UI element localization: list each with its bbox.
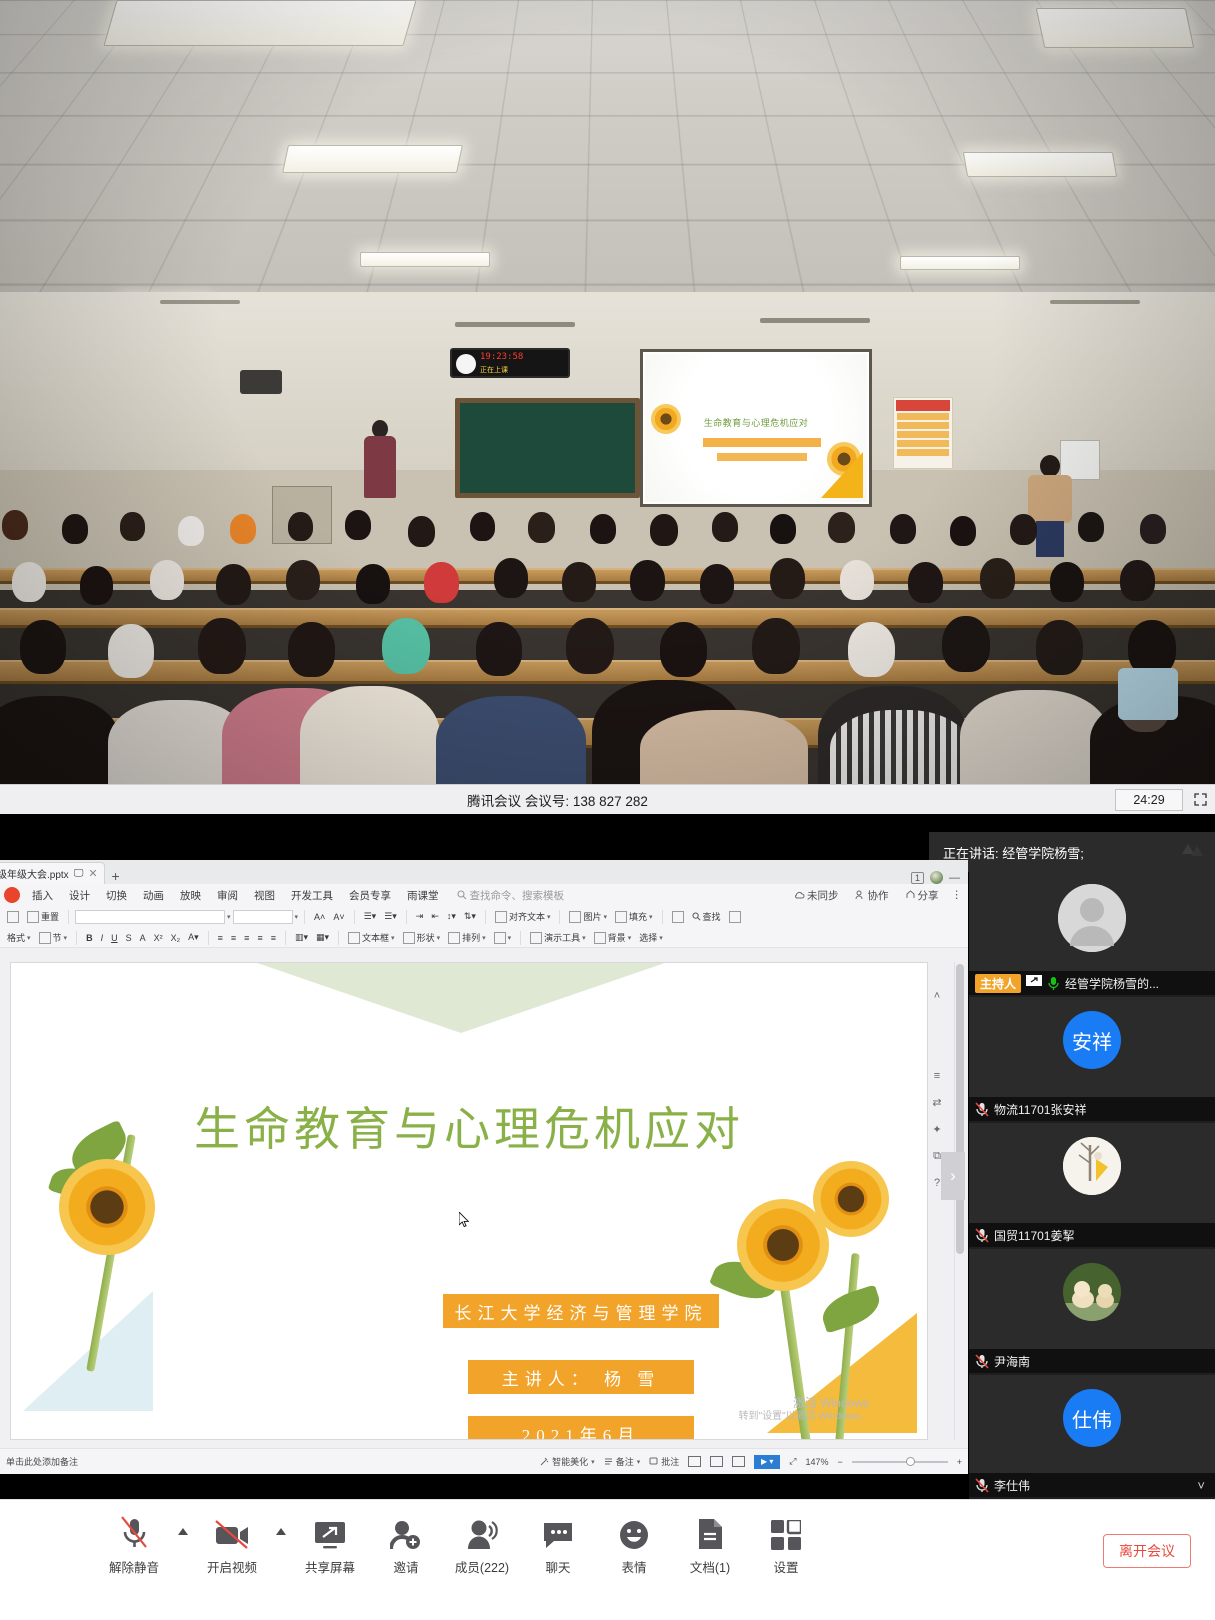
- ribbon-row-2: 格式▾ 节▾ B I U S A X² X₂ A▾ ≡ ≡ ≡ ≡ ≡ ▥▾ ▦…: [0, 927, 968, 948]
- ceiling-fan: [455, 322, 575, 327]
- emoji-smile-icon: [618, 1510, 650, 1550]
- wall-poster: [893, 397, 953, 469]
- monitor-icon: 🖵: [74, 868, 84, 879]
- menu-item-review[interactable]: 审阅: [209, 888, 246, 903]
- document-icon: [696, 1510, 724, 1550]
- participant-name-row: 尹海南: [969, 1349, 1215, 1373]
- participant-tile[interactable]: 主持人 经管学院杨雪的...: [969, 872, 1215, 997]
- slide-band-organization[interactable]: 长江大学经济与管理学院: [443, 1294, 719, 1328]
- mic-muted-icon: [975, 1354, 989, 1368]
- ceiling-light: [1036, 8, 1195, 48]
- paste-button[interactable]: [4, 911, 22, 923]
- people-icon: [855, 890, 866, 900]
- justify-icon[interactable]: ≡: [254, 933, 265, 943]
- screen-share-icon: [1026, 975, 1042, 991]
- ceiling-light: [963, 152, 1117, 177]
- leave-meeting-button[interactable]: 离开会议: [1103, 1534, 1191, 1568]
- wps-editing-area[interactable]: 生命教育与心理危机应对 长江大学经济与管理学院 主讲人： 杨 雪 2021年6月…: [0, 948, 968, 1453]
- menu-item-animation[interactable]: 动画: [135, 888, 172, 903]
- zoom-slider[interactable]: [852, 1461, 948, 1463]
- avatar: 安祥: [1063, 1011, 1121, 1069]
- text-direction-icon[interactable]: ⇅▾: [461, 911, 479, 922]
- participant-name-row: 国贸11701姜挈: [969, 1223, 1215, 1247]
- participant-name-row: 李仕伟 ˅: [969, 1473, 1215, 1497]
- align-left-icon[interactable]: ≡: [215, 933, 226, 943]
- meeting-app-window: 19:23:58 正在上课 生命教育与心理危机应对: [0, 0, 1215, 1620]
- mic-on-icon: [1047, 976, 1060, 991]
- comment-icon: [649, 1457, 658, 1466]
- emoji-label: 表情: [621, 1557, 646, 1576]
- settings-label: 设置: [773, 1557, 798, 1576]
- wps-document-tab[interactable]: 级年级大会.pptx 🖵 ✕: [0, 862, 105, 884]
- share-button[interactable]: 分享: [902, 888, 942, 903]
- avatar: [1063, 1263, 1121, 1321]
- fit-to-window-icon[interactable]: ⤢: [789, 1456, 796, 1467]
- line-spacing-icon[interactable]: ↕▾: [444, 911, 459, 922]
- sunflower-icon: [813, 1161, 889, 1237]
- participant-tile[interactable]: 安祥 物流11701张安祥: [969, 997, 1215, 1123]
- menu-item-design[interactable]: 设计: [61, 888, 98, 903]
- menu-item-slideshow[interactable]: 放映: [172, 888, 209, 903]
- blackboard: [455, 398, 640, 498]
- subscript-icon[interactable]: X₂: [168, 933, 184, 943]
- underline-icon[interactable]: U: [108, 933, 121, 943]
- video-toggle-label: 开启视频: [207, 1557, 257, 1576]
- sync-status[interactable]: 未同步: [791, 888, 842, 903]
- increase-indent-icon[interactable]: ⇤: [428, 911, 442, 922]
- transform-icon[interactable]: ▾: [491, 932, 515, 944]
- menu-lines-icon[interactable]: ≡: [934, 1070, 940, 1082]
- picture-tree-icon: [1063, 1137, 1121, 1195]
- host-badge: 主持人: [975, 974, 1021, 993]
- wps-tab-strip: 级年级大会.pptx 🖵 ✕ + 1 —: [0, 860, 968, 884]
- slide-band-speaker[interactable]: 主讲人： 杨 雪: [468, 1360, 694, 1394]
- shapes-button[interactable]: 形状▾: [400, 931, 444, 944]
- wps-tab-title: 级年级大会.pptx: [0, 866, 69, 881]
- screen-share-icon: [313, 1510, 347, 1550]
- ribbon-row-1: 重置 ▾ ▾ A˄ A˅ ☰▾ ☰▾ ⇥ ⇤ ↕▾ ⇅▾ 对齐文本▾ 图片▾ 填…: [0, 906, 968, 927]
- select-button[interactable]: [726, 911, 744, 923]
- slide-vertical-scrollbar[interactable]: [954, 962, 964, 1440]
- presentation-tools-button[interactable]: 演示工具▾: [527, 931, 589, 944]
- start-slideshow-button[interactable]: ▶ ▾: [754, 1455, 780, 1469]
- beautify-icon[interactable]: ✦: [932, 1123, 941, 1136]
- participant-sidebar[interactable]: 主持人 经管学院杨雪的... 安祥 物流11701张安祥: [969, 872, 1215, 1499]
- search-icon: [457, 890, 467, 900]
- picture-button[interactable]: 图片▾: [566, 910, 610, 923]
- chat-button[interactable]: 聊天: [520, 1510, 596, 1576]
- new-tab-button[interactable]: +: [105, 868, 127, 884]
- grid-settings-icon: [771, 1510, 801, 1550]
- cloud-icon: [794, 890, 805, 900]
- mic-muted-icon: [119, 1510, 149, 1550]
- smart-beautify-button[interactable]: 智能美化▾: [540, 1455, 595, 1468]
- slide-side-toolrail[interactable]: ˄ ≡ ⇄ ✦ ⧉ ?: [928, 948, 946, 1453]
- participant-tile[interactable]: 仕伟 李仕伟 ˅: [969, 1375, 1215, 1499]
- chat-label: 聊天: [545, 1557, 570, 1576]
- participant-name-row: 主持人 经管学院杨雪的...: [969, 971, 1215, 995]
- meeting-title: 腾讯会议 会议号: 138 827 282: [0, 790, 1115, 810]
- find-button[interactable]: 查找: [689, 910, 724, 923]
- ceiling-light: [282, 145, 463, 173]
- speaking-toast: 正在讲话: 经管学院杨雪;: [929, 832, 1215, 872]
- ceiling-fan: [160, 300, 240, 304]
- presenter-person: [362, 420, 398, 498]
- text-shadow-icon[interactable]: A: [137, 933, 149, 943]
- window-count-badge[interactable]: 1: [911, 872, 924, 884]
- menu-item-insert[interactable]: 插入: [24, 888, 61, 903]
- avatar: [1058, 884, 1126, 952]
- format-button[interactable]: 格式▾: [4, 931, 34, 944]
- led-clock: 19:23:58 正在上课: [450, 348, 570, 378]
- documents-button[interactable]: 文档(1): [672, 1510, 748, 1576]
- phone-screen: [1118, 668, 1178, 720]
- participants-button[interactable]: 成员(222): [444, 1510, 520, 1576]
- help-icon[interactable]: ?: [934, 1177, 940, 1189]
- speaking-toast-text: 正在讲话: 经管学院杨雪;: [943, 843, 1084, 862]
- share-screen-button[interactable]: 共享屏幕: [292, 1510, 368, 1576]
- projected-slide-title: 生命教育与心理危机应对: [645, 416, 867, 429]
- increase-font-icon[interactable]: A˄: [311, 912, 328, 922]
- slide-canvas[interactable]: 生命教育与心理危机应对 长江大学经济与管理学院 主讲人： 杨 雪 2021年6月…: [10, 962, 928, 1440]
- font-name-box[interactable]: [75, 910, 225, 924]
- participant-tile[interactable]: 尹海南: [969, 1249, 1215, 1375]
- mouse-cursor: [459, 1212, 470, 1227]
- windows-activation-watermark: 激活 Windows 转到"设置"以激活 Windows。: [739, 1396, 869, 1424]
- font-size-box[interactable]: [233, 910, 293, 924]
- zoom-in-button[interactable]: +: [957, 1457, 962, 1467]
- comment-button[interactable]: 批注: [649, 1455, 679, 1468]
- mic-muted-icon: [975, 1102, 989, 1116]
- menu-item-member[interactable]: 会员专享: [341, 888, 399, 903]
- background-button[interactable]: 背景▾: [591, 931, 635, 944]
- zoom-out-button[interactable]: −: [837, 1457, 842, 1467]
- decrease-font-icon[interactable]: A˅: [330, 912, 347, 922]
- sunflower-icon: [59, 1159, 155, 1255]
- align-text-button[interactable]: 对齐文本▾: [492, 910, 554, 923]
- main-video-stage[interactable]: 19:23:58 正在上课 生命教育与心理危机应对: [0, 0, 1215, 784]
- magic-wand-icon: [540, 1457, 549, 1466]
- search-icon: [692, 912, 701, 921]
- top-decoration-shape: [141, 962, 781, 1033]
- reading-view-icon[interactable]: [732, 1456, 745, 1467]
- collapse-ribbon-icon[interactable]: ˄: [934, 990, 940, 1002]
- ceiling-fan: [1050, 300, 1140, 304]
- fill-button[interactable]: 填充▾: [612, 910, 656, 923]
- section-button[interactable]: 节▾: [36, 931, 71, 944]
- ceiling-fan: [760, 318, 870, 323]
- settings-button[interactable]: 设置: [748, 1510, 824, 1576]
- user-avatar[interactable]: [930, 871, 943, 884]
- minimize-button[interactable]: —: [949, 872, 960, 884]
- mic-muted-icon: [975, 1228, 989, 1242]
- wps-logo-icon: [4, 887, 20, 903]
- clock-status: 正在上课: [480, 365, 508, 375]
- adjust-icon[interactable]: ⇄: [932, 1096, 941, 1109]
- participant-tile[interactable]: 国贸11701姜挈: [969, 1123, 1215, 1249]
- zoom-level-label[interactable]: 147%: [805, 1457, 828, 1467]
- font-color-icon[interactable]: A▾: [185, 932, 202, 943]
- expand-icon[interactable]: [1187, 787, 1213, 813]
- video-toggle-button[interactable]: 开启视频: [194, 1510, 270, 1576]
- normal-view-icon[interactable]: [688, 1456, 701, 1467]
- select-objects-button[interactable]: 选择▾: [636, 931, 666, 944]
- bold-icon[interactable]: B: [83, 933, 96, 943]
- clock-time: 19:23:58: [480, 352, 523, 362]
- collaborate-button[interactable]: 协作: [852, 888, 892, 903]
- mic-muted-icon: [975, 1478, 989, 1492]
- shape-outline-icon[interactable]: [669, 911, 687, 923]
- camera-off-icon: [214, 1510, 250, 1550]
- mute-toggle-button[interactable]: 解除静音: [96, 1510, 172, 1576]
- menu-item-developer[interactable]: 开发工具: [283, 888, 341, 903]
- align-right-icon[interactable]: ≡: [241, 933, 252, 943]
- notes-button[interactable]: 备注▾: [604, 1455, 641, 1468]
- superscript-icon[interactable]: X²: [151, 933, 166, 943]
- chat-bubble-icon: [542, 1510, 574, 1550]
- smart-layout-icon[interactable]: ▦▾: [313, 932, 332, 943]
- avatar: 仕伟: [1063, 1389, 1121, 1447]
- ceiling-light: [103, 0, 416, 46]
- wps-status-bar: 单击此处添加备注 智能美化▾ 备注▾ 批注 ▶ ▾ ⤢: [0, 1448, 968, 1474]
- participants-icon: [466, 1510, 498, 1550]
- participant-name: 李仕伟: [994, 1477, 1030, 1494]
- documents-label: 文档(1): [690, 1557, 730, 1576]
- arrange-button[interactable]: 排列▾: [445, 931, 489, 944]
- ceiling-light: [360, 252, 490, 267]
- ceiling-light: [900, 256, 1020, 270]
- meeting-timer: 24:29: [1115, 789, 1183, 811]
- triangle-decoration: [821, 452, 863, 498]
- projection-screen: 生命教育与心理危机应对: [640, 349, 872, 507]
- emoji-button[interactable]: 表情: [596, 1510, 672, 1576]
- wps-presentation-window[interactable]: 级年级大会.pptx 🖵 ✕ + 1 — 插入 设计 切换 动画 放映 审阅 视…: [0, 860, 968, 1474]
- avatar-initials: 安祥: [1072, 1026, 1112, 1055]
- audience: [0, 500, 1215, 784]
- distribute-icon[interactable]: ≡: [268, 933, 279, 943]
- avatar-initials: 仕伟: [1072, 1404, 1112, 1433]
- close-tab-icon[interactable]: ✕: [88, 867, 97, 880]
- projector: [240, 370, 282, 394]
- strikethrough-icon[interactable]: S: [123, 933, 135, 943]
- chevron-down-icon[interactable]: ˅: [1197, 1478, 1205, 1493]
- bullets-icon[interactable]: ☰▾: [361, 911, 380, 922]
- slide-title[interactable]: 生命教育与心理危机应对: [11, 1093, 927, 1159]
- search-command-box[interactable]: 查找命令、搜索模板: [447, 888, 565, 903]
- participants-label: 成员(222): [455, 1557, 509, 1576]
- participant-name: 物流11701张安祥: [994, 1101, 1086, 1118]
- align-center-icon[interactable]: ≡: [228, 933, 239, 943]
- menu-item-rain-classroom[interactable]: 雨课堂: [399, 888, 447, 903]
- participant-name: 国贸11701姜挈: [994, 1227, 1074, 1244]
- avatar: [1063, 1137, 1121, 1195]
- meeting-bottom-toolbar: 解除静音 开启视频: [0, 1499, 1215, 1620]
- menu-item-transition[interactable]: 切换: [98, 888, 135, 903]
- picture-dogs-icon: [1063, 1263, 1121, 1321]
- invite-label: 邀请: [393, 1557, 418, 1576]
- default-person-icon: [1058, 884, 1126, 952]
- wps-ribbon[interactable]: 重置 ▾ ▾ A˄ A˅ ☰▾ ☰▾ ⇥ ⇤ ↕▾ ⇅▾ 对齐文本▾ 图片▾ 填…: [0, 906, 968, 948]
- video-options-caret[interactable]: [270, 1510, 292, 1535]
- invite-person-icon: [390, 1510, 422, 1550]
- italic-icon[interactable]: I: [98, 933, 107, 943]
- textbox-button[interactable]: 文本框▾: [345, 931, 398, 944]
- participant-name-row: 物流11701张安祥: [969, 1097, 1215, 1121]
- participant-name: 经管学院杨雪的...: [1065, 975, 1159, 992]
- reset-button[interactable]: 重置: [24, 910, 62, 923]
- menu-item-view[interactable]: 视图: [246, 888, 283, 903]
- columns-icon[interactable]: ▥▾: [292, 932, 311, 943]
- slide-band-date[interactable]: 2021年6月: [468, 1416, 694, 1440]
- mic-options-caret[interactable]: [172, 1510, 194, 1535]
- share-icon: [905, 890, 916, 900]
- notes-placeholder[interactable]: 单击此处添加备注: [6, 1455, 306, 1468]
- next-slide-arrow-button[interactable]: ›: [941, 1152, 965, 1200]
- share-screen-label: 共享屏幕: [305, 1557, 355, 1576]
- copy-icon[interactable]: ⧉: [933, 1150, 941, 1163]
- search-placeholder: 查找命令、搜索模板: [470, 888, 565, 903]
- invite-button[interactable]: 邀请: [368, 1510, 444, 1576]
- numbering-icon[interactable]: ☰▾: [381, 911, 400, 922]
- participant-name: 尹海南: [994, 1353, 1030, 1370]
- wps-menu-bar[interactable]: 插入 设计 切换 动画 放映 审阅 视图 开发工具 会员专享 雨课堂 查找命令、…: [0, 884, 968, 906]
- meeting-title-bar: 腾讯会议 会议号: 138 827 282 24:29: [0, 784, 1215, 814]
- mute-toggle-label: 解除静音: [109, 1557, 159, 1576]
- app-logo-icon: [1179, 840, 1205, 864]
- decrease-indent-icon[interactable]: ⇥: [413, 911, 427, 922]
- slide-sorter-view-icon[interactable]: [710, 1456, 723, 1467]
- notes-icon: [604, 1457, 613, 1466]
- more-options-icon[interactable]: ⋮: [952, 889, 963, 901]
